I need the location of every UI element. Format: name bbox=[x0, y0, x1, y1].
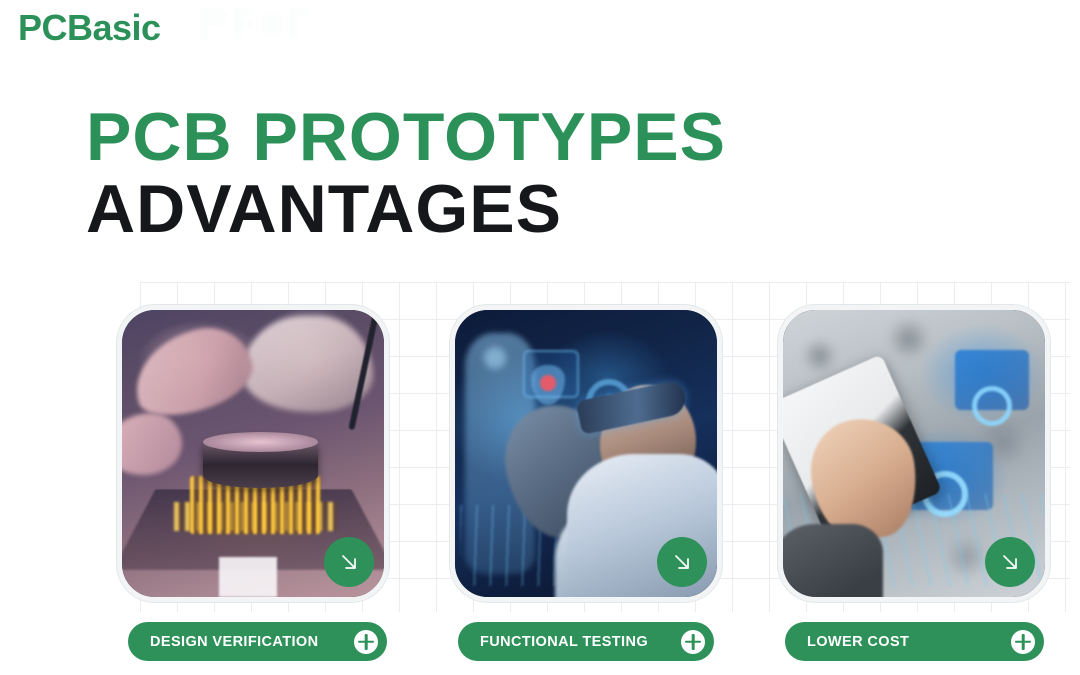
plus-icon[interactable] bbox=[354, 630, 378, 654]
plus-icon[interactable] bbox=[681, 630, 705, 654]
brand-logo[interactable]: PCBasic bbox=[18, 8, 161, 48]
pcbasic-watermark-icon bbox=[196, 2, 316, 46]
button-label: DESIGN VERIFICATION bbox=[150, 634, 354, 650]
card-image-design-verification[interactable] bbox=[117, 305, 389, 602]
button-label: FUNCTIONAL TESTING bbox=[480, 634, 681, 650]
title-line-2: ADVANTAGES bbox=[86, 175, 726, 243]
button-design-verification[interactable]: DESIGN VERIFICATION bbox=[128, 622, 387, 661]
arrow-down-right-icon[interactable] bbox=[657, 537, 707, 587]
plus-icon[interactable] bbox=[1011, 630, 1035, 654]
arrow-down-right-icon[interactable] bbox=[324, 537, 374, 587]
arrow-down-right-icon[interactable] bbox=[985, 537, 1035, 587]
title-line-1: PCB PROTOTYPES bbox=[86, 104, 726, 171]
button-lower-cost[interactable]: LOWER COST bbox=[785, 622, 1044, 661]
button-label: LOWER COST bbox=[807, 634, 1011, 650]
card-image-lower-cost[interactable] bbox=[778, 305, 1050, 602]
page-title: PCB PROTOTYPES ADVANTAGES bbox=[86, 104, 726, 243]
advantage-card-lower-cost[interactable] bbox=[778, 305, 1050, 602]
advantage-cards: DESIGN VERIFICATION FUNCTIONAL TESTING L… bbox=[0, 305, 1080, 675]
card-image-functional-testing[interactable] bbox=[450, 305, 722, 602]
button-functional-testing[interactable]: FUNCTIONAL TESTING bbox=[458, 622, 714, 661]
advantage-card-design-verification[interactable] bbox=[117, 305, 389, 602]
advantage-card-functional-testing[interactable] bbox=[450, 305, 722, 602]
